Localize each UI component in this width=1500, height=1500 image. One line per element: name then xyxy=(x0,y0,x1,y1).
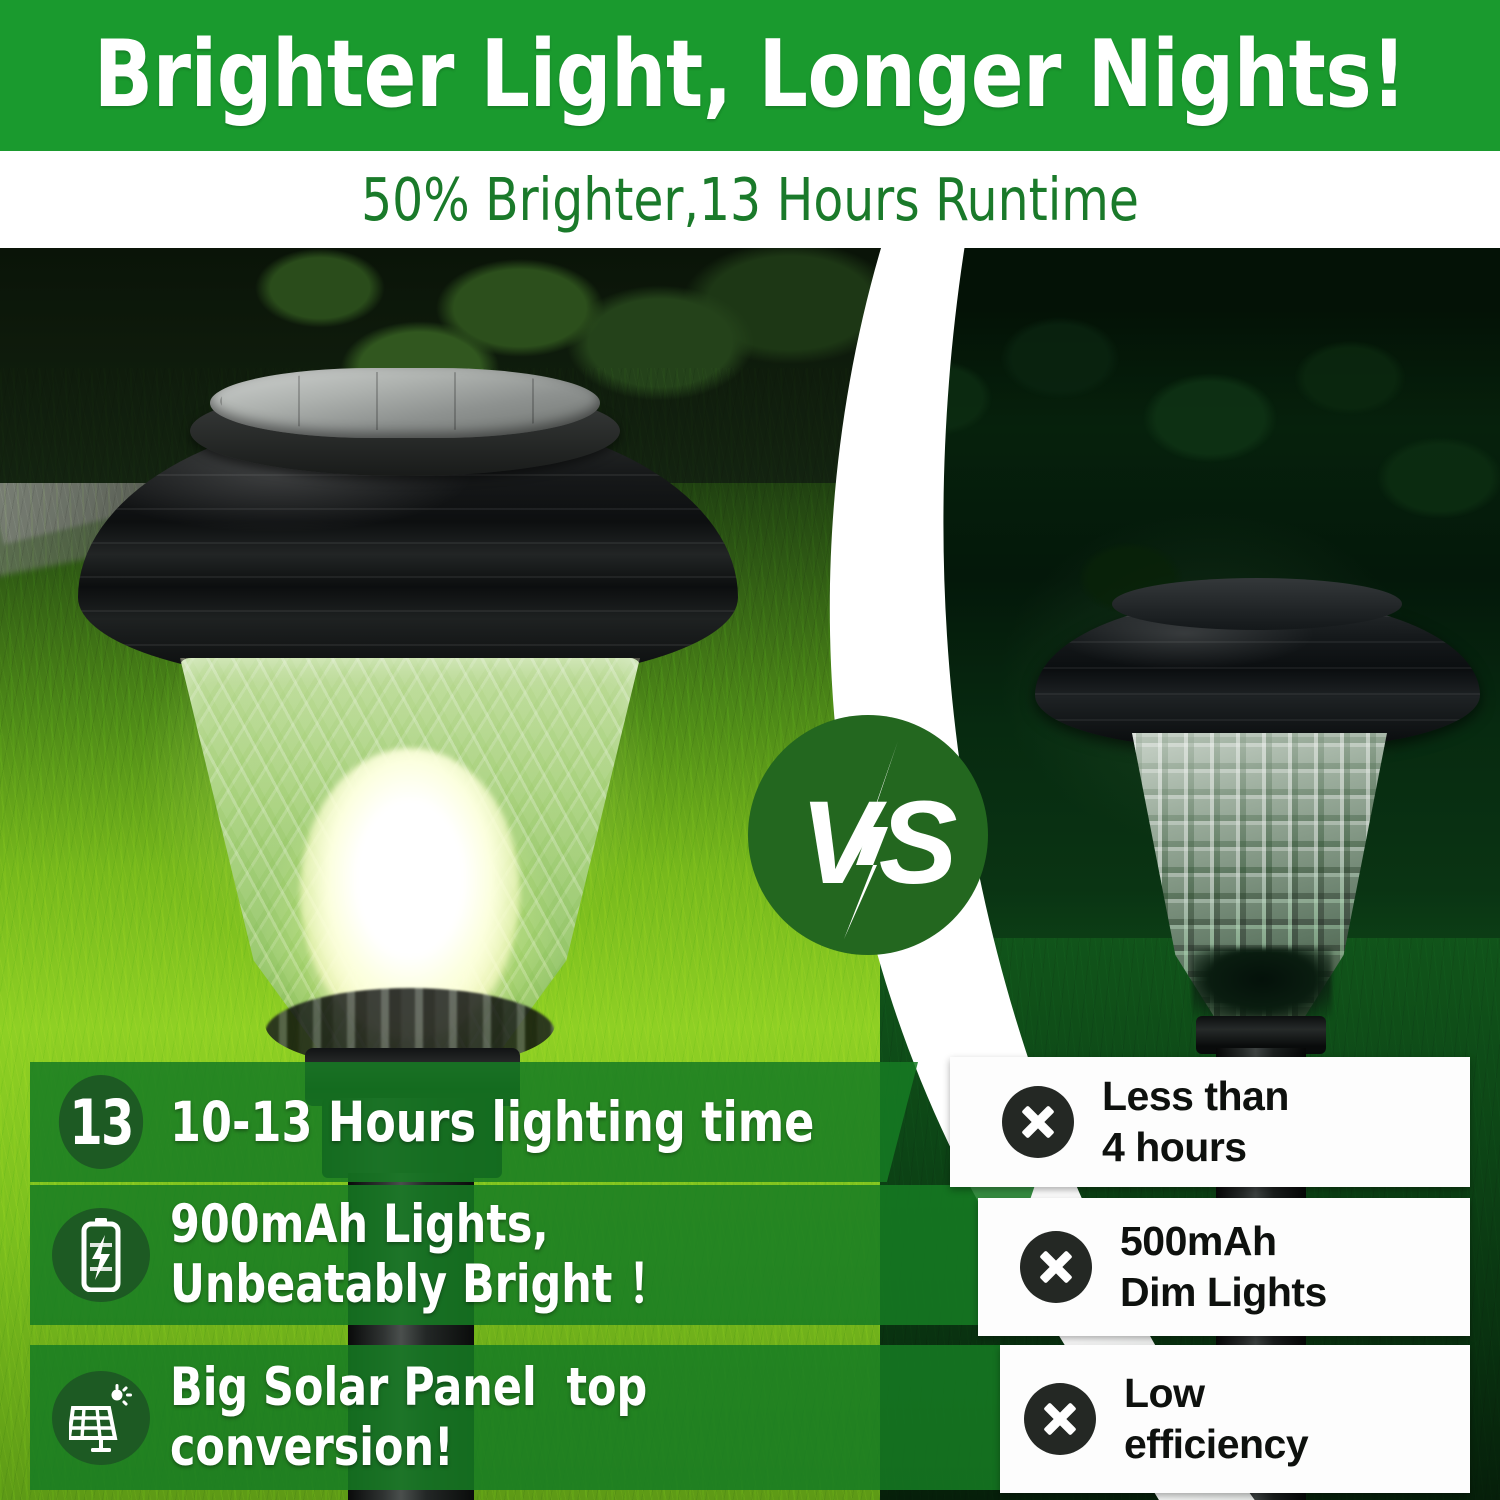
page-subtitle: 50% Brighter,13 Hours Runtime xyxy=(60,151,1440,248)
vs-badge-graphic: VS xyxy=(748,715,988,955)
x-circle-icon xyxy=(1002,1086,1074,1158)
con-bar-battery: 500mAh Dim Lights xyxy=(978,1198,1470,1336)
battery-charging-glyph xyxy=(76,1218,126,1292)
pro-label-lighting-time: 10-13 Hours lighting time xyxy=(170,1092,814,1152)
vs-badge: VS xyxy=(748,715,988,955)
pro-bar-lighting-time: 13 10-13 Hours lighting time xyxy=(30,1062,918,1182)
solar-panel-grid xyxy=(220,372,590,430)
x-circle-icon xyxy=(1020,1231,1092,1303)
number-13-badge: 13 xyxy=(59,1075,143,1169)
lamp-cap-top xyxy=(1112,578,1402,630)
con-label-battery: 500mAh Dim Lights xyxy=(1120,1216,1327,1318)
pro-label-solar-panel: Big Solar Panel top conversion! xyxy=(170,1358,647,1478)
solar-panel-glyph xyxy=(69,1384,133,1452)
con-label-efficiency: Low efficiency xyxy=(1124,1368,1308,1470)
page-title: Brighter Light, Longer Nights! xyxy=(53,0,1448,151)
pro-bar-battery: 900mAh Lights, Unbeatably Bright ！ xyxy=(30,1185,1035,1325)
con-bar-runtime: Less than 4 hours xyxy=(950,1057,1470,1187)
pro-label-battery: 900mAh Lights, Unbeatably Bright ！ xyxy=(170,1195,675,1315)
solar-panel-icon xyxy=(52,1371,150,1465)
header-banner: Brighter Light, Longer Nights! xyxy=(0,0,1500,151)
con-bar-efficiency: Low efficiency xyxy=(1000,1345,1470,1493)
con-label-runtime: Less than 4 hours xyxy=(1102,1071,1289,1173)
unlit-led-area xyxy=(1192,948,1332,1018)
product-comparison-image: Brighter Light, Longer Nights! 50% Brigh… xyxy=(0,0,1500,1500)
battery-charging-icon xyxy=(52,1208,150,1302)
left-solar-lamp-lit xyxy=(60,368,760,1500)
x-circle-icon xyxy=(1024,1383,1096,1455)
pro-bar-solar-panel: Big Solar Panel top conversion! xyxy=(30,1345,1100,1490)
